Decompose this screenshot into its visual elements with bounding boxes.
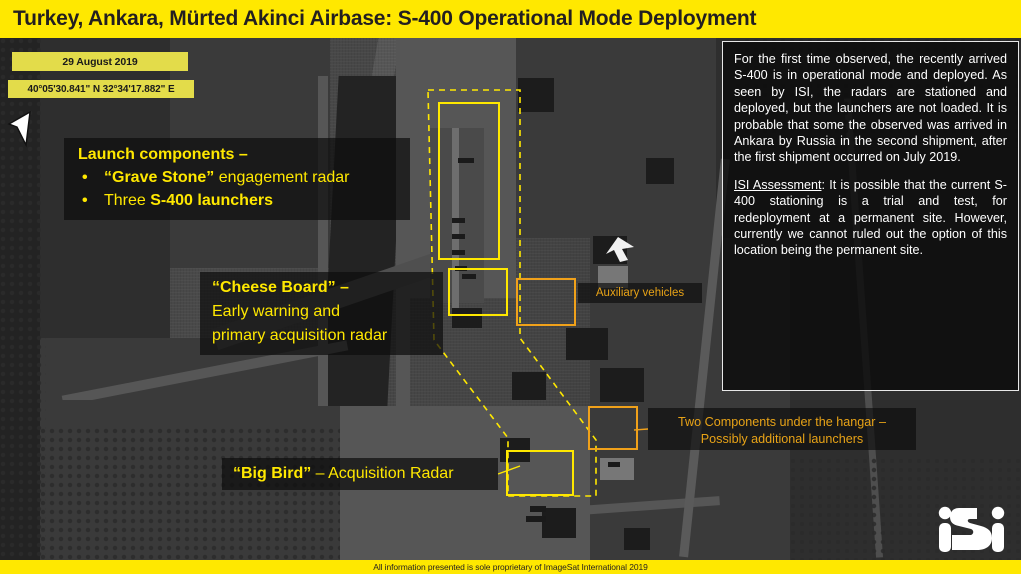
launch-bullet-2: • Three S-400 launchers (78, 189, 398, 212)
footer-bar: All information presented is sole propri… (0, 560, 1021, 574)
north-arrow-icon (4, 108, 40, 150)
launch-bullet-1: • “Grave Stone” engagement radar (78, 166, 398, 189)
building (512, 372, 546, 400)
cheese-board-title: “Cheese Board” – (212, 276, 433, 300)
cheese-board-line-3: primary acquisition radar (212, 324, 433, 348)
coordinates-chip: 40°05'30.841" N 32°34'17.882" E (8, 80, 194, 98)
header-bar: Turkey, Ankara, Mürted Akinci Airbase: S… (0, 0, 1021, 38)
building (593, 236, 627, 264)
vehicle (608, 462, 620, 467)
hangar-components-box (588, 406, 638, 450)
bullet-icon: • (78, 166, 104, 189)
launchers-count: Three (104, 192, 150, 209)
hangar-line-2: Possibly additional launchers (701, 431, 863, 448)
analysis-assessment: ISI Assessment: It is possible that the … (734, 177, 1007, 259)
cheese-board-box (448, 268, 508, 316)
building (624, 528, 650, 550)
vehicle (526, 516, 546, 522)
taxiway (318, 76, 328, 406)
big-bird-box (506, 450, 574, 496)
auxiliary-vehicles-box (516, 278, 576, 326)
big-bird-desc: – Acquisition Radar (311, 465, 453, 482)
taxiway (396, 76, 410, 406)
page-title: Turkey, Ankara, Mürted Akinci Airbase: S… (0, 7, 756, 31)
callout-auxiliary-vehicles: Auxiliary vehicles (578, 283, 702, 303)
building (518, 78, 554, 112)
hangar-line-1: Two Components under the hangar – (678, 414, 886, 431)
copyright-text: All information presented is sole propri… (373, 562, 647, 572)
vehicle (530, 506, 546, 512)
building (646, 158, 674, 184)
callout-cheese-board: “Cheese Board” – Early warning and prima… (200, 272, 443, 355)
launchers-label: S-400 launchers (150, 192, 273, 209)
callout-hangar-components: Two Components under the hangar – Possib… (648, 408, 916, 450)
building (600, 368, 644, 402)
isi-logo (937, 506, 1005, 552)
analysis-paragraph-1: For the first time observed, the recentl… (734, 51, 1007, 166)
building (566, 328, 608, 360)
callout-big-bird: “Big Bird” – Acquisition Radar (222, 458, 498, 490)
screenshot-root: Turkey, Ankara, Mürted Akinci Airbase: S… (0, 0, 1021, 574)
launch-components-box (438, 102, 500, 260)
capture-date-chip: 29 August 2019 (12, 52, 188, 71)
building (542, 508, 576, 538)
building (58, 400, 92, 426)
grave-stone-desc: engagement radar (214, 169, 349, 186)
grave-stone-label: “Grave Stone” (104, 169, 214, 186)
launch-heading: Launch components – (78, 144, 398, 166)
treeline (40, 428, 340, 560)
callout-launch-components: Launch components – • “Grave Stone” enga… (64, 138, 410, 220)
terrain-patch (516, 38, 716, 238)
cheese-board-line-2: Early warning and (212, 300, 433, 324)
assessment-label: ISI Assessment (734, 178, 822, 192)
bullet-icon: • (78, 189, 104, 212)
analysis-panel: For the first time observed, the recentl… (722, 41, 1019, 391)
big-bird-label: “Big Bird” (233, 465, 311, 482)
